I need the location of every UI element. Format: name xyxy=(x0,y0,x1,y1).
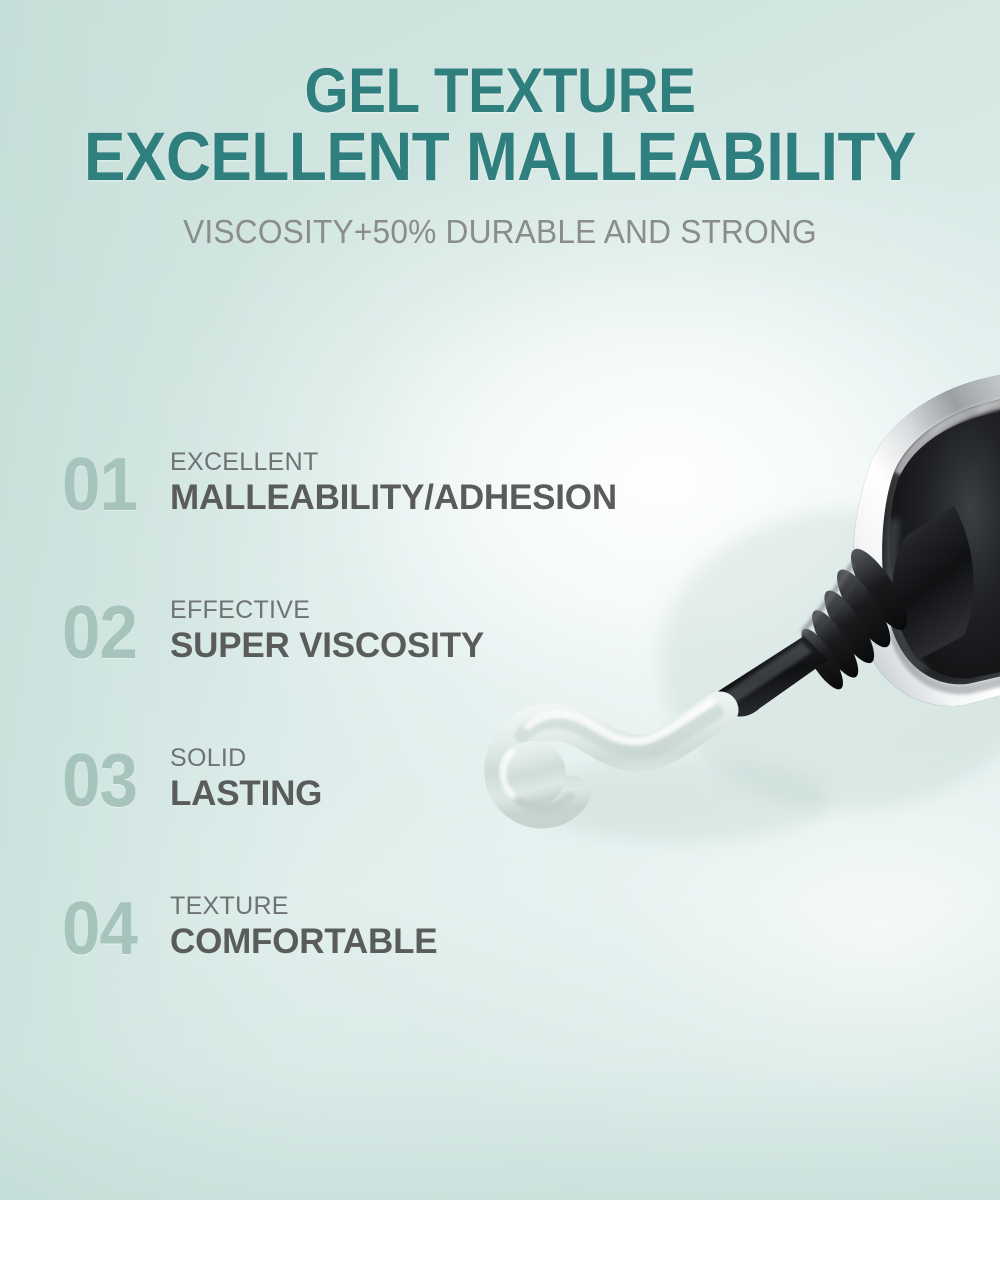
feature-number: 04 xyxy=(62,891,159,966)
feature-row: 02 EFFECTIVE SUPER VISCOSITY xyxy=(0,591,1000,739)
product-banner: GEL TEXTURE EXCELLENT MALLEABILITY VISCO… xyxy=(0,0,1000,1283)
bottom-white-strip xyxy=(0,1200,1000,1283)
feature-subtitle: EFFECTIVE xyxy=(170,596,484,625)
feature-text: EXCELLENT MALLEABILITY/ADHESION xyxy=(170,448,617,518)
headline-block: GEL TEXTURE EXCELLENT MALLEABILITY xyxy=(0,60,1000,192)
feature-title: COMFORTABLE xyxy=(170,921,437,962)
feature-row: 01 EXCELLENT MALLEABILITY/ADHESION xyxy=(0,443,1000,591)
feature-list: 01 EXCELLENT MALLEABILITY/ADHESION 02 EF… xyxy=(0,443,1000,1035)
feature-title: LASTING xyxy=(170,773,322,814)
feature-title: MALLEABILITY/ADHESION xyxy=(170,477,617,518)
headline-line-2: EXCELLENT MALLEABILITY xyxy=(50,122,950,192)
feature-row: 04 TEXTURE COMFORTABLE xyxy=(0,887,1000,1035)
feature-subtitle: SOLID xyxy=(170,744,322,773)
feature-subtitle: TEXTURE xyxy=(170,892,437,921)
feature-number: 01 xyxy=(62,447,159,522)
feature-text: TEXTURE COMFORTABLE xyxy=(170,892,437,962)
feature-text: SOLID LASTING xyxy=(170,744,322,814)
feature-title: SUPER VISCOSITY xyxy=(170,625,484,666)
feature-number: 03 xyxy=(62,743,159,818)
feature-text: EFFECTIVE SUPER VISCOSITY xyxy=(170,596,484,666)
feature-subtitle: EXCELLENT xyxy=(170,448,617,477)
feature-row: 03 SOLID LASTING xyxy=(0,739,1000,887)
subtitle: VISCOSITY+50% DURABLE AND STRONG xyxy=(20,212,980,252)
feature-number: 02 xyxy=(62,595,159,670)
headline-line-1: GEL TEXTURE xyxy=(50,60,950,122)
